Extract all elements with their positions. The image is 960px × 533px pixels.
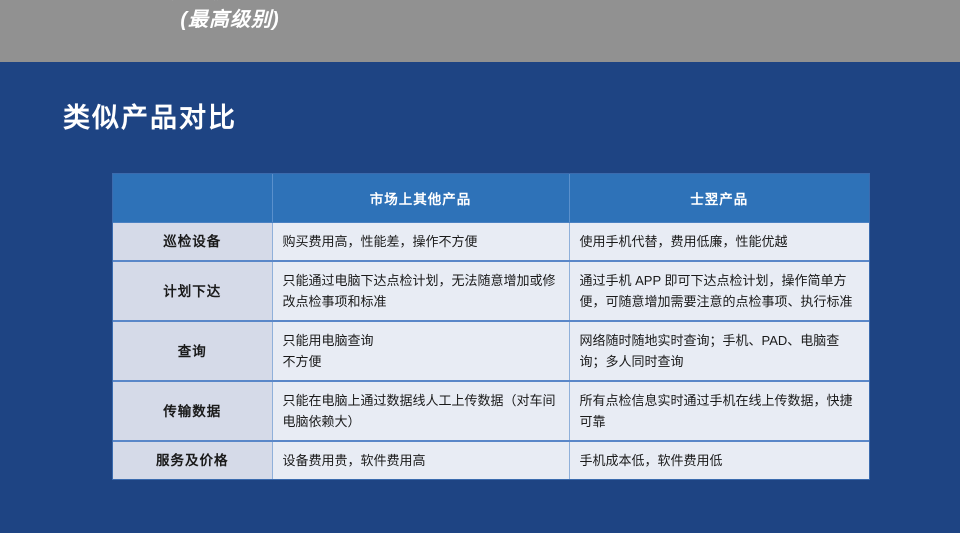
table-row: 传输数据 只能在电脑上通过数据线人工上传数据（对车间电脑依赖大） 所有点检信息实…: [113, 381, 869, 441]
row-other-inspection-device: 购买费用高，性能差，操作不方便: [272, 223, 569, 262]
slide-page: 防护等级达到IP68 (最高级别) 类似产品对比 市场上其他产品 士翌产品 巡检…: [0, 0, 960, 533]
row-label-plan-dispatch: 计划下达: [113, 261, 272, 321]
row-ours-service-price: 手机成本低，软件费用低: [569, 441, 869, 479]
row-other-query-line-1: 只能用电脑查询: [283, 330, 559, 351]
row-other-query: 只能用电脑查询 不方便: [272, 321, 569, 381]
row-ours-query: 网络随时随地实时查询；手机、PAD、电脑查询；多人同时查询: [569, 321, 869, 381]
row-ours-plan-dispatch: 通过手机 APP 即可下达点检计划，操作简单方便，可随意增加需要注意的点检事项、…: [569, 261, 869, 321]
row-label-query: 查询: [113, 321, 272, 381]
table-row: 服务及价格 设备费用贵，软件费用高 手机成本低，软件费用低: [113, 441, 869, 479]
table-header-cell-blank: [113, 174, 272, 223]
table-body: 巡检设备 购买费用高，性能差，操作不方便 使用手机代替，费用低廉，性能优越 计划…: [113, 223, 869, 480]
comparison-table-container: 市场上其他产品 士翌产品 巡检设备 购买费用高，性能差，操作不方便 使用手机代替…: [112, 173, 870, 480]
top-grey-band: 防护等级达到IP68 (最高级别): [0, 0, 960, 62]
top-band-caption: 防护等级达到IP68 (最高级别): [0, 0, 460, 34]
table-header-cell-other-products: 市场上其他产品: [272, 174, 569, 223]
table-row: 查询 只能用电脑查询 不方便 网络随时随地实时查询；手机、PAD、电脑查询；多人…: [113, 321, 869, 381]
row-other-data-transfer: 只能在电脑上通过数据线人工上传数据（对车间电脑依赖大）: [272, 381, 569, 441]
table-header: 市场上其他产品 士翌产品: [113, 174, 869, 223]
table-row: 计划下达 只能通过电脑下达点检计划，无法随意增加或修改点检事项和标准 通过手机 …: [113, 261, 869, 321]
row-label-data-transfer: 传输数据: [113, 381, 272, 441]
row-label-service-price: 服务及价格: [113, 441, 272, 479]
table-header-cell-our-product: 士翌产品: [569, 174, 869, 223]
row-label-inspection-device: 巡检设备: [113, 223, 272, 262]
table-row: 巡检设备 购买费用高，性能差，操作不方便 使用手机代替，费用低廉，性能优越: [113, 223, 869, 262]
row-other-service-price: 设备费用贵，软件费用高: [272, 441, 569, 479]
row-other-query-line-2: 不方便: [283, 351, 559, 372]
row-other-plan-dispatch: 只能通过电脑下达点检计划，无法随意增加或修改点检事项和标准: [272, 261, 569, 321]
row-ours-inspection-device: 使用手机代替，费用低廉，性能优越: [569, 223, 869, 262]
page-title: 类似产品对比: [63, 100, 237, 136]
comparison-table: 市场上其他产品 士翌产品 巡检设备 购买费用高，性能差，操作不方便 使用手机代替…: [113, 174, 869, 479]
table-header-row: 市场上其他产品 士翌产品: [113, 174, 869, 223]
row-ours-data-transfer: 所有点检信息实时通过手机在线上传数据，快捷可靠: [569, 381, 869, 441]
